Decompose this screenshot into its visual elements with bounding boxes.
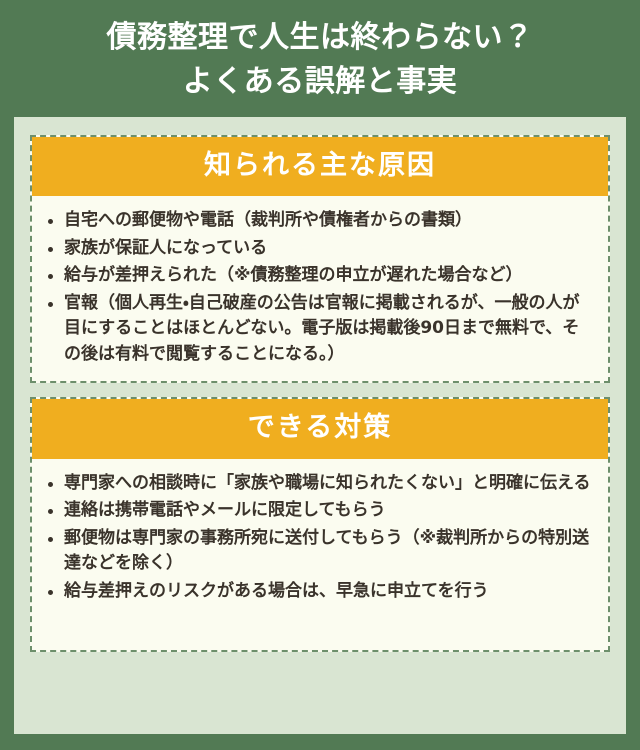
list-item: 専門家への相談時に「家族や職場に知られたくない」と明確に伝える bbox=[44, 471, 592, 497]
list-item: 給与が差押えられた（※債務整理の申立が遅れた場合など） bbox=[44, 263, 592, 289]
card-causes-body: 自宅への郵便物や電話（裁判所や債権者からの書類） 家族が保証人になっている 給与… bbox=[32, 196, 608, 381]
list-item: 自宅への郵便物や電話（裁判所や債権者からの書類） bbox=[44, 208, 592, 234]
content-panel: 知られる主な原因 自宅への郵便物や電話（裁判所や債権者からの書類） 家族が保証人… bbox=[14, 117, 626, 734]
list-item: 給与差押えのリスクがある場合は、早急に申立てを行う bbox=[44, 579, 592, 605]
list-item: 官報（個人再生・自己破産の公告は官報に掲載されるが、一般の人が目にすることはほと… bbox=[44, 291, 592, 368]
infographic-root: 債務整理で人生は終わらない？ よくある誤解と事実 知られる主な原因 自宅への郵便… bbox=[0, 0, 640, 750]
page-title-line-1: 債務整理で人生は終わらない？ bbox=[20, 16, 620, 60]
card-countermeasures-list: 専門家への相談時に「家族や職場に知られたくない」と明確に伝える 連絡は携帯電話や… bbox=[44, 471, 592, 605]
card-causes-list: 自宅への郵便物や電話（裁判所や債権者からの書類） 家族が保証人になっている 給与… bbox=[44, 208, 592, 367]
list-item: 郵便物は専門家の事務所宛に送付してもらう（※裁判所からの特別送達などを除く） bbox=[44, 526, 592, 577]
card-causes-header: 知られる主な原因 bbox=[32, 137, 608, 196]
page-title: 債務整理で人生は終わらない？ よくある誤解と事実 bbox=[0, 0, 640, 117]
card-countermeasures: できる対策 専門家への相談時に「家族や職場に知られたくない」と明確に伝える 連絡… bbox=[30, 397, 610, 652]
card-causes: 知られる主な原因 自宅への郵便物や電話（裁判所や債権者からの書類） 家族が保証人… bbox=[30, 135, 610, 383]
card-countermeasures-body: 専門家への相談時に「家族や職場に知られたくない」と明確に伝える 連絡は携帯電話や… bbox=[32, 459, 608, 651]
page-title-line-2: よくある誤解と事実 bbox=[20, 60, 620, 104]
list-item: 家族が保証人になっている bbox=[44, 236, 592, 262]
list-item: 連絡は携帯電話やメールに限定してもらう bbox=[44, 498, 592, 524]
card-countermeasures-header: できる対策 bbox=[32, 399, 608, 458]
